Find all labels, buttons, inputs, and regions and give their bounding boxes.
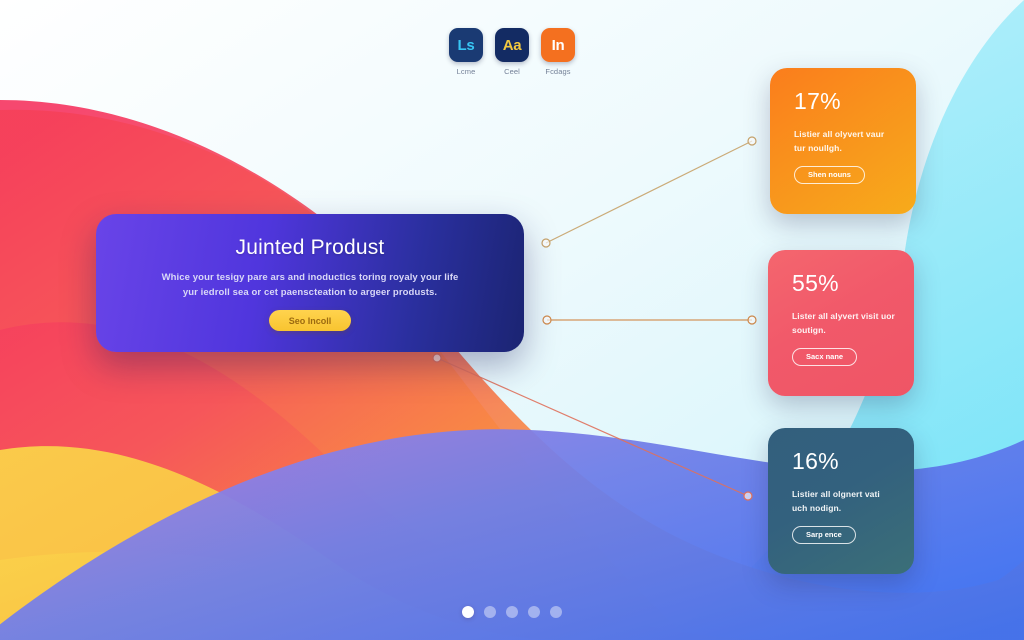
stat-card-1[interactable]: 55% Lister all alyvert visit uor soutign…	[768, 250, 914, 396]
pagination-dot-3[interactable]	[528, 606, 540, 618]
stat-card-2[interactable]: 16% Listier all olgnert vati uch nodign.…	[768, 428, 914, 574]
hero-description: Whice your tesigy pare ars and inoductic…	[160, 271, 460, 300]
app-icon-cell-2[interactable]: InFcdags	[541, 28, 575, 76]
stat-description: Listier all olyvert vaur tur noullgh.	[794, 128, 898, 155]
stat-cta-button[interactable]: Sacx nane	[792, 348, 857, 366]
hero-card[interactable]: Juinted Produst Whice your tesigy pare a…	[96, 214, 524, 352]
slide-canvas: LsLcmeAaCeelInFcdags Juinted Produst Whi…	[0, 0, 1024, 640]
stat-cta-button[interactable]: Sarp ence	[792, 526, 856, 544]
stat-card-0[interactable]: 17% Listier all olyvert vaur tur noullgh…	[770, 68, 916, 214]
indesign-icon[interactable]: In	[541, 28, 575, 62]
stat-value: 55%	[792, 272, 914, 295]
hero-cta-button[interactable]: Seo Incoll	[269, 310, 352, 331]
app-icon-row: LsLcmeAaCeelInFcdags	[0, 28, 1024, 76]
carousel-pagination[interactable]	[0, 606, 1024, 618]
stat-value: 17%	[794, 90, 916, 113]
stat-description: Lister all alyvert visit uor soutign.	[792, 310, 896, 337]
pagination-dot-0[interactable]	[462, 606, 474, 618]
pagination-dot-2[interactable]	[506, 606, 518, 618]
app-icon-label: Fcdags	[545, 67, 570, 76]
lightroom-icon[interactable]: Ls	[449, 28, 483, 62]
hero-title: Juinted Produst	[236, 236, 385, 260]
pagination-dot-1[interactable]	[484, 606, 496, 618]
app-icon-label: Ceel	[504, 67, 520, 76]
app-icon-label: Lcme	[457, 67, 476, 76]
app-icon-cell-0[interactable]: LsLcme	[449, 28, 483, 76]
app-icon-cell-1[interactable]: AaCeel	[495, 28, 529, 76]
pagination-dot-4[interactable]	[550, 606, 562, 618]
typography-icon[interactable]: Aa	[495, 28, 529, 62]
stat-value: 16%	[792, 450, 914, 473]
stat-cta-button[interactable]: Shen nouns	[794, 166, 865, 184]
stat-description: Listier all olgnert vati uch nodign.	[792, 488, 896, 515]
